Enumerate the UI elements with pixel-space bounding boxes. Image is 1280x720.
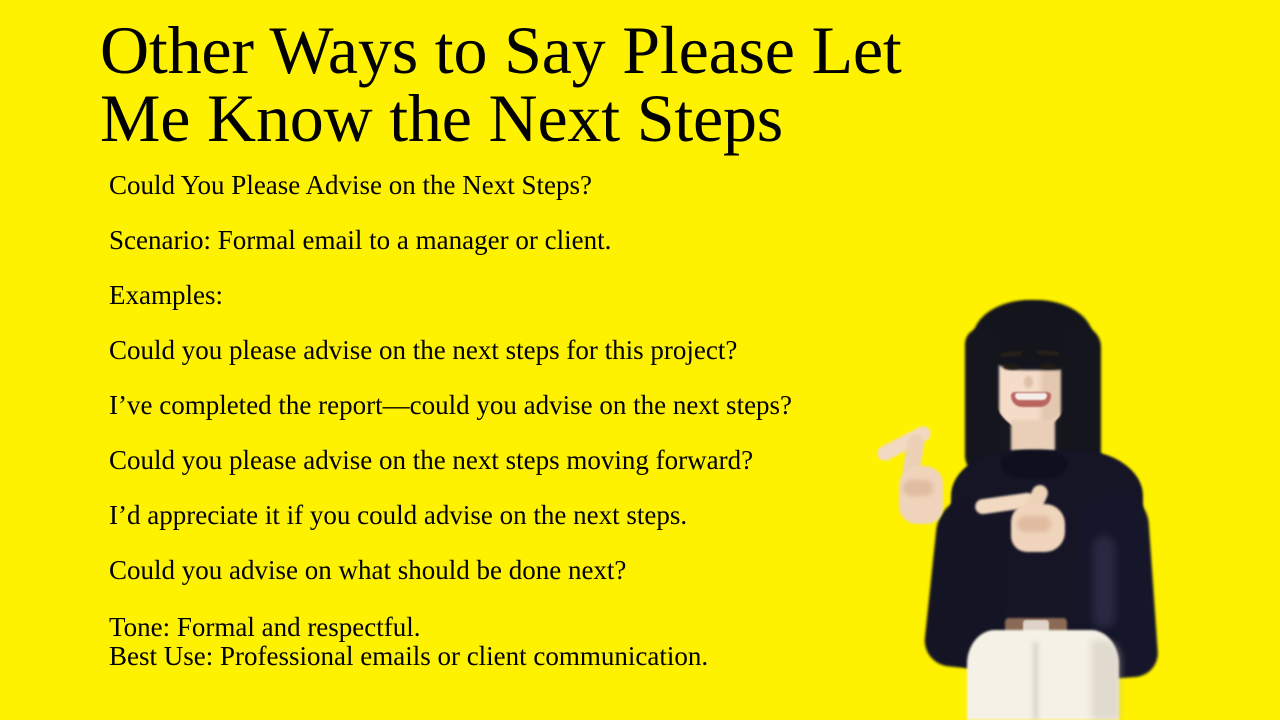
body-example-4: I’d appreciate it if you could advise on… [109,500,899,531]
body-examples-label: Examples: [109,280,899,311]
knuckles [903,480,933,496]
body-example-3: Could you please advise on the next step… [109,445,899,476]
pointing-hand-chest [973,482,1079,556]
slide-canvas: Other Ways to Say Please Let Me Know the… [0,0,1280,720]
trouser-fold [1033,642,1038,720]
eye-left [1003,364,1020,370]
trouser-shading [1091,640,1121,720]
sleeve-highlight [1093,536,1115,628]
footer-tone: Tone: Formal and respectful. [109,613,899,642]
page-title: Other Ways to Say Please Let Me Know the… [100,16,930,152]
footer-content: Tone: Formal and respectful. Best Use: P… [109,613,899,671]
body-example-2: I’ve completed the report—could you advi… [109,390,899,421]
body-example-1: Could you please advise on the next step… [109,335,899,366]
sweater-collar [1001,450,1067,478]
body-scenario: Scenario: Formal email to a manager or c… [109,225,899,256]
title-line-1: Other Ways to Say Please Let [100,16,930,84]
body-content: Could You Please Advise on the Next Step… [109,170,899,610]
footer-best-use: Best Use: Professional emails or client … [109,642,899,671]
presenter-figure [855,300,1155,720]
eye-right [1040,363,1057,369]
teeth [1015,393,1047,400]
pointing-hand-raised [877,428,951,532]
body-heading: Could You Please Advise on the Next Step… [109,170,899,201]
title-line-2: Me Know the Next Steps [100,84,930,152]
nose [1024,376,1033,388]
knuckles [1017,516,1051,532]
body-example-5: Could you advise on what should be done … [109,555,899,586]
